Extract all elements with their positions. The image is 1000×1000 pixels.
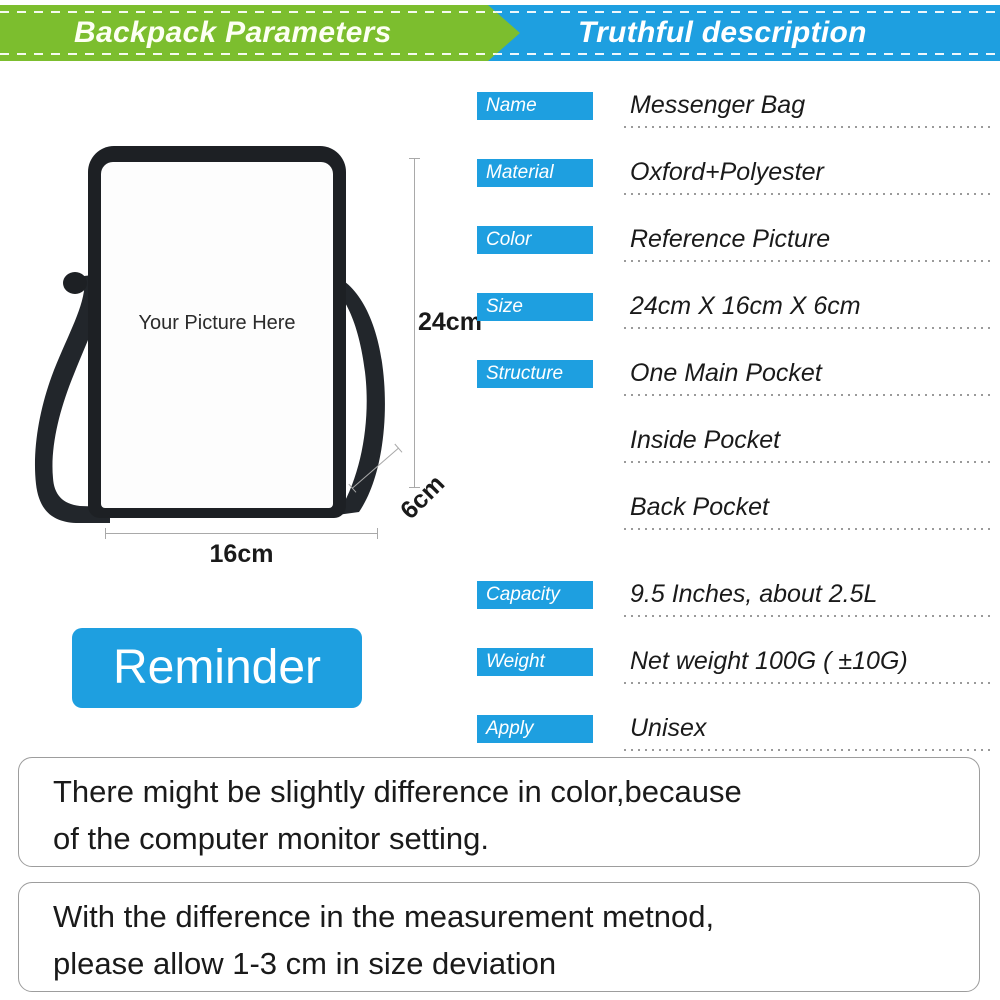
spec-row-dotted-rule <box>624 260 990 262</box>
spec-label-text: Name <box>477 92 593 120</box>
spec-label-badge: Color <box>477 226 593 254</box>
spec-label-badge: Apply <box>477 715 593 743</box>
spec-value-text: Messenger Bag <box>630 88 805 122</box>
spec-value-text: 24cm X 16cm X 6cm <box>630 289 861 323</box>
spec-label-text: Capacity <box>477 581 593 609</box>
spec-label-badge: Capacity <box>477 581 593 609</box>
spec-label-badge: Material <box>477 159 593 187</box>
spec-row: NameMessenger Bag <box>477 88 992 134</box>
dimension-label-height: 24cm <box>418 308 482 337</box>
note-measurement-line2: please allow 1-3 cm in size deviation <box>19 940 979 987</box>
reminder-badge-label: Reminder <box>72 628 362 708</box>
spec-label-badge: Size <box>477 293 593 321</box>
spec-row-dotted-rule <box>624 193 990 195</box>
spec-value-text: Back Pocket <box>630 490 769 524</box>
spec-label-text: Apply <box>477 715 593 743</box>
spec-row-dotted-rule <box>624 528 990 530</box>
spec-value-text: One Main Pocket <box>630 356 822 390</box>
spec-row: Inside Pocket <box>477 423 992 469</box>
spec-value-text: Inside Pocket <box>630 423 780 457</box>
spec-label-text: Size <box>477 293 593 321</box>
note-box-measurement: With the difference in the measurement m… <box>18 882 980 992</box>
header-right-title: Truthful description <box>578 5 867 61</box>
strap-clip-icon <box>63 272 87 294</box>
spec-row-dotted-rule <box>624 327 990 329</box>
note-measurement-line1: With the difference in the measurement m… <box>19 883 979 940</box>
spec-label-text: Color <box>477 226 593 254</box>
note-box-color: There might be slightly difference in co… <box>18 757 980 867</box>
dimension-line-height <box>414 158 415 488</box>
bag-caption: Your Picture Here <box>101 312 333 335</box>
spec-row-dotted-rule <box>624 682 990 684</box>
bag-print-panel <box>101 162 333 508</box>
spec-label-text: Weight <box>477 648 593 676</box>
spec-row-dotted-rule <box>624 749 990 751</box>
note-color-line1: There might be slightly difference in co… <box>19 758 979 815</box>
spec-label-text: Structure <box>477 360 593 388</box>
spec-value-text: Net weight 100G ( ±10G) <box>630 644 908 678</box>
spec-value-text: Unisex <box>630 711 706 745</box>
spec-row-dotted-rule <box>624 126 990 128</box>
spec-row-dotted-rule <box>624 394 990 396</box>
spec-row-dotted-rule <box>624 461 990 463</box>
spec-row: MaterialOxford+Polyester <box>477 155 992 201</box>
header-banner: Backpack Parameters Truthful description <box>0 5 1000 61</box>
spec-label-text: Material <box>477 159 593 187</box>
spec-value-text: Reference Picture <box>630 222 830 256</box>
note-color-line2: of the computer monitor setting. <box>19 815 979 862</box>
spec-value-text: 9.5 Inches, about 2.5L <box>630 577 877 611</box>
spec-row: WeightNet weight 100G ( ±10G) <box>477 644 992 690</box>
spec-row: Back Pocket <box>477 490 992 536</box>
spec-row: ColorReference Picture <box>477 222 992 268</box>
spec-row-dotted-rule <box>624 615 990 617</box>
header-left-title: Backpack Parameters <box>74 5 392 61</box>
spec-row: Capacity9.5 Inches, about 2.5L <box>477 577 992 623</box>
spec-value-text: Oxford+Polyester <box>630 155 824 189</box>
spec-row: StructureOne Main Pocket <box>477 356 992 402</box>
spec-label-badge: Name <box>477 92 593 120</box>
spec-row: Size24cm X 16cm X 6cm <box>477 289 992 335</box>
spec-label-badge: Weight <box>477 648 593 676</box>
spec-label-badge: Structure <box>477 360 593 388</box>
dimension-line-width <box>105 533 378 534</box>
spec-row: ApplyUnisex <box>477 711 992 757</box>
dimension-label-width: 16cm <box>105 540 378 569</box>
